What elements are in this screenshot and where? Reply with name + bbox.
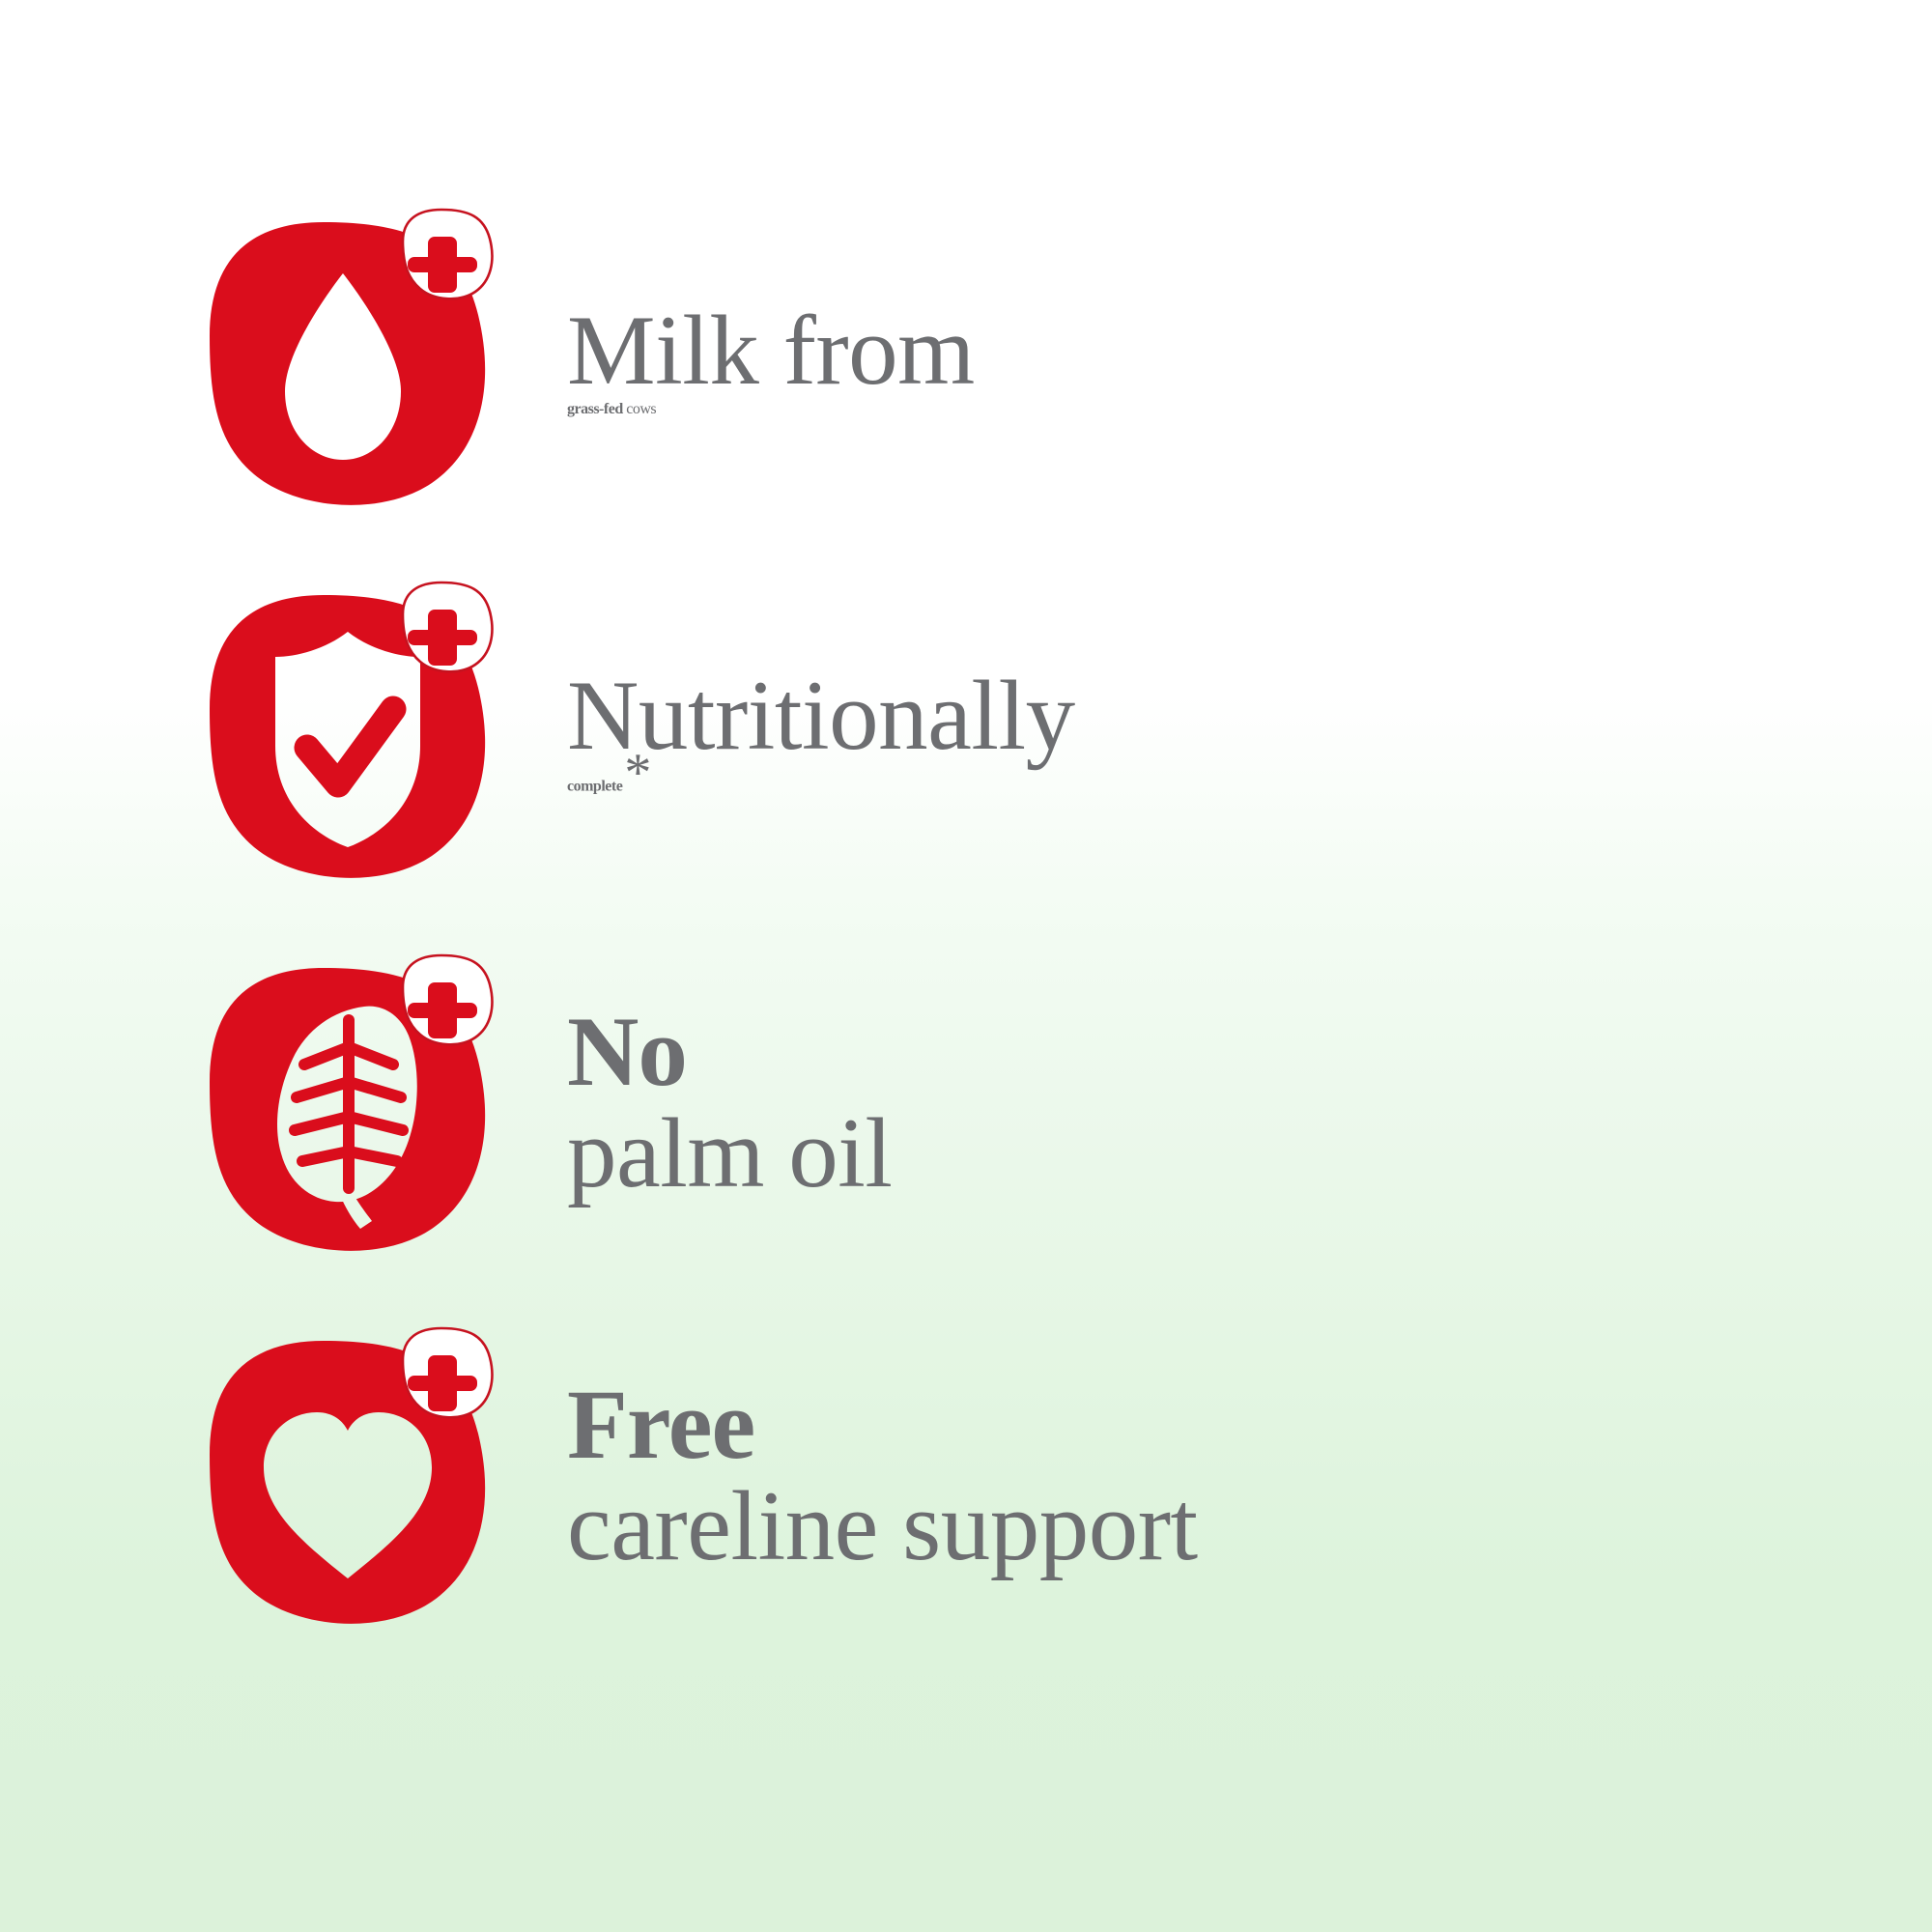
plus-badge-icon [403, 1328, 492, 1417]
plus-badge-icon [403, 582, 492, 671]
feature-line-1: Nutritionally [567, 666, 1734, 767]
feature-line-2: palm oil [567, 1103, 1734, 1205]
icon-block-careline [188, 1320, 507, 1638]
benefits-graphic: Milk from grass-fed cows [0, 0, 1932, 1932]
feature-text-palm-oil: No palm oil [507, 1002, 1734, 1210]
feature-list: Milk from grass-fed cows [0, 0, 1932, 1932]
feature-item-nutrition: Nutritionally complete* [188, 574, 1734, 893]
feature-line-2: careline support [567, 1476, 1734, 1577]
leaf-icon [188, 947, 507, 1265]
feature-line-1: Free [567, 1375, 1734, 1476]
feature-line-2: complete* [567, 767, 1734, 795]
feature-line-1: Milk from [567, 300, 1734, 402]
shield-check-icon [188, 574, 507, 893]
icon-block-milk [188, 201, 507, 520]
feature-text-milk: Milk from grass-fed cows [507, 300, 1734, 423]
plus-badge-icon [403, 955, 492, 1044]
feature-text-nutrition: Nutritionally complete* [507, 666, 1734, 801]
feature-line-2-light: cows [623, 401, 656, 417]
heart-icon [188, 1320, 507, 1638]
plus-badge-icon [403, 210, 492, 298]
footnote-asterisk: * [624, 743, 651, 803]
feature-item-palm-oil: No palm oil [188, 947, 1734, 1265]
feature-item-careline: Free careline support [188, 1320, 1734, 1638]
feature-line-1: No [567, 1002, 1734, 1103]
feature-line-2-bold: complete [567, 779, 622, 795]
feature-text-careline: Free careline support [507, 1375, 1734, 1583]
milk-droplet-icon [188, 201, 507, 520]
feature-line-2-bold: grass-fed [567, 401, 623, 417]
icon-block-nutrition [188, 574, 507, 893]
feature-item-milk: Milk from grass-fed cows [188, 201, 1734, 520]
icon-block-palm-oil [188, 947, 507, 1265]
